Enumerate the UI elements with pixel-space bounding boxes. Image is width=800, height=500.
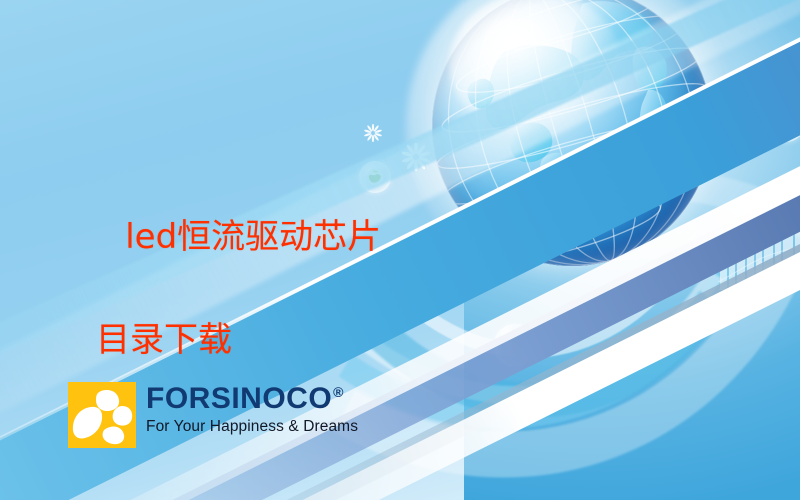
company-logo: FORSINOCO ® For Your Happiness & Dreams — [68, 382, 358, 448]
brand-name: FORSINOCO — [146, 384, 332, 414]
brand-name-row: FORSINOCO ® — [146, 384, 358, 414]
sparkle-flower-small-icon — [364, 124, 382, 142]
slide-canvas: led恒流驱动芯片 目录下载 FORSINOCO ® For Your Happ… — [0, 0, 800, 500]
headline-line-1: led恒流驱动芯片 — [125, 217, 381, 257]
brand-tagline: For Your Happiness & Dreams — [146, 418, 358, 436]
logo-text-block: FORSINOCO ® For Your Happiness & Dreams — [146, 382, 358, 436]
registered-mark: ® — [333, 385, 344, 399]
forsinoco-flower-mark — [68, 382, 136, 448]
flower-petals-icon — [68, 382, 136, 448]
headline-line-2: 目录下载 — [96, 315, 412, 367]
